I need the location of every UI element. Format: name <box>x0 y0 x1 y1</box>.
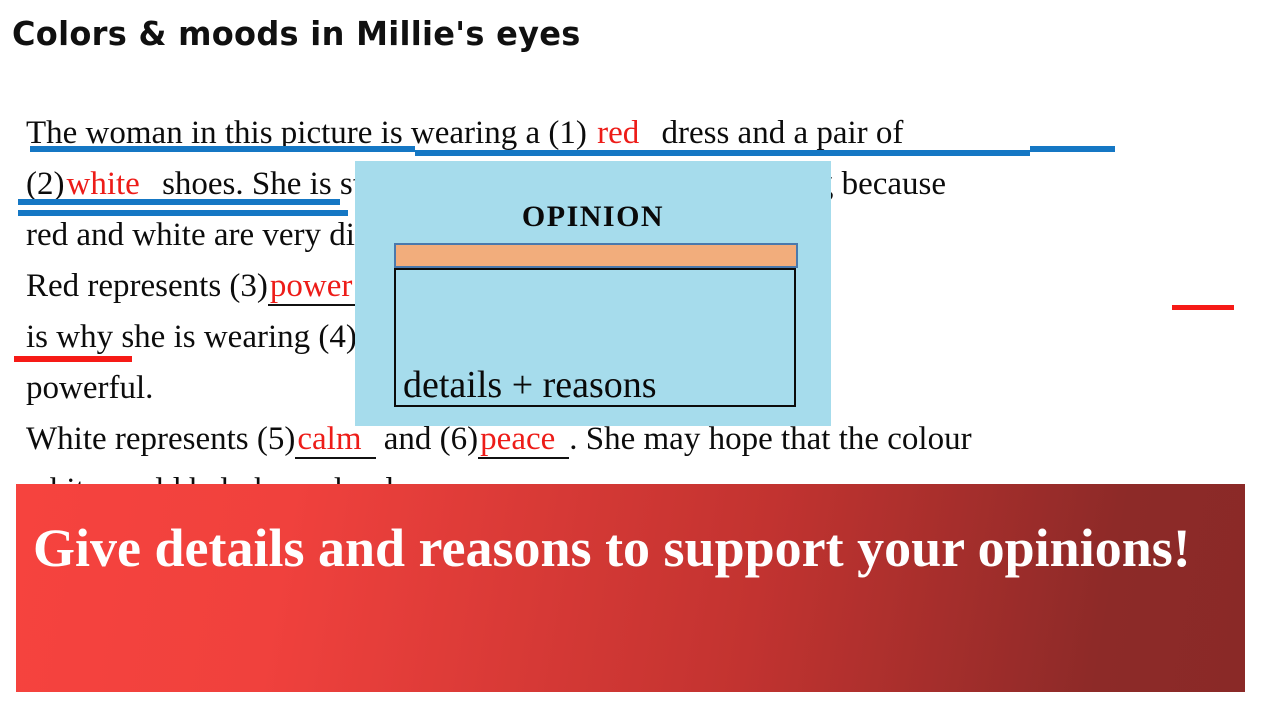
cta-banner: Give details and reasons to support your… <box>16 484 1245 692</box>
answer-blank-1[interactable]: red <box>595 115 653 153</box>
opinion-support-box: details + reasons <box>394 268 796 407</box>
blue-rule-line-1-mid <box>415 150 1030 156</box>
line-6-text: powerful. <box>26 370 153 406</box>
answer-blank-5[interactable]: calm <box>295 421 375 459</box>
line-2-text-a: (2) <box>26 166 64 202</box>
line-4-text-a: Red represents (3) <box>26 268 268 304</box>
opinion-overlay-panel: OPINION details + reasons <box>355 161 831 426</box>
opinion-heading: OPINION <box>355 200 831 234</box>
line-5-text-a: is why she is wearing (4) <box>26 319 357 355</box>
blue-rule-line-1-left <box>30 146 415 152</box>
opinion-topic-bar <box>394 243 798 268</box>
slide-canvas: Colors & moods in Millie's eyes The woma… <box>0 0 1280 720</box>
line-7-text-c: . She may hope that the colour <box>569 421 971 457</box>
blue-rule-line-1-right <box>1030 146 1115 152</box>
answer-blank-6[interactable]: peace <box>478 421 569 459</box>
blue-rule-line-3 <box>18 210 348 216</box>
red-rule-that <box>1172 305 1234 310</box>
blue-rule-line-2 <box>18 199 340 205</box>
opinion-box-label: details + reasons <box>403 363 657 407</box>
cta-banner-text: Give details and reasons to support your… <box>33 498 1233 598</box>
line-7-text-a: White represents (5) <box>26 421 295 457</box>
line-7-text-b: and (6) <box>376 421 479 457</box>
red-rule-is-why <box>14 356 132 362</box>
page-title: Colors & moods in Millie's eyes <box>12 14 581 53</box>
line-1-text-b: dress and a pair of <box>653 115 903 151</box>
